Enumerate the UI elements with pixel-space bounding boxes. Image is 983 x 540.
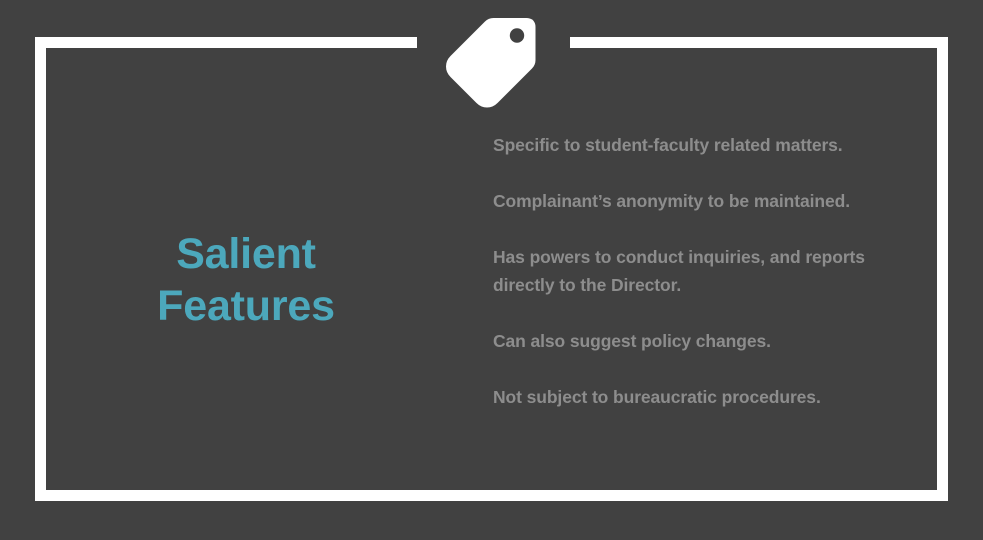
page-title: Salient Features bbox=[60, 228, 432, 332]
list-item: Complainant’s anonymity to be maintained… bbox=[493, 187, 925, 215]
list-item: Specific to student-faculty related matt… bbox=[493, 131, 925, 159]
page-title-line-1: Salient bbox=[60, 228, 432, 280]
frame-border-right bbox=[937, 37, 948, 501]
frame-border-bottom bbox=[35, 490, 948, 501]
price-tag-icon bbox=[440, 12, 544, 112]
frame-border-top-right bbox=[570, 37, 948, 48]
list-item: Not subject to bureaucratic procedures. bbox=[493, 383, 925, 411]
list-item: Has powers to conduct inquiries, and rep… bbox=[493, 243, 925, 299]
feature-list: Specific to student-faculty related matt… bbox=[493, 131, 925, 411]
frame-border-top-left bbox=[35, 37, 417, 48]
list-item: Can also suggest policy changes. bbox=[493, 327, 925, 355]
frame-border-left bbox=[35, 37, 46, 501]
slide-canvas: Salient Features Specific to student-fac… bbox=[0, 0, 983, 540]
page-title-line-2: Features bbox=[60, 280, 432, 332]
